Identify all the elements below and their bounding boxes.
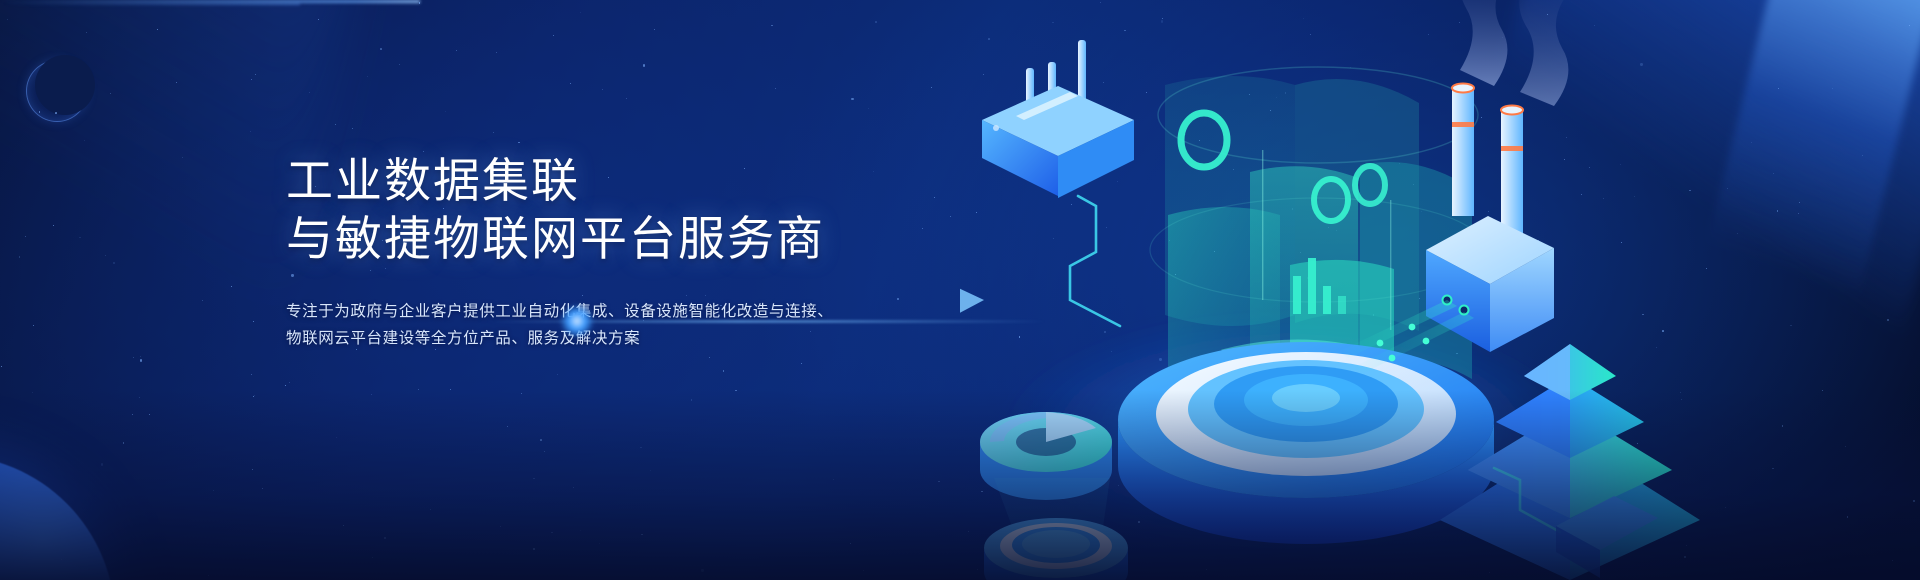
smokestack-1 bbox=[1452, 88, 1474, 216]
headline-line-2: 与敏捷物联网平台服务商 bbox=[286, 210, 986, 268]
network-cable-left bbox=[1070, 196, 1120, 326]
hero-copy: 工业数据集联 与敏捷物联网平台服务商 专注于为政府与企业客户提供工业自动化集成、… bbox=[286, 152, 986, 352]
pie-chart-block bbox=[980, 412, 1128, 580]
light-streak-horizontal-2 bbox=[0, 3, 300, 5]
wireless-router bbox=[982, 40, 1134, 198]
smokestack-2 bbox=[1501, 110, 1523, 238]
smoke-plume-1 bbox=[1460, 0, 1508, 86]
headline-line-1: 工业数据集联 bbox=[286, 152, 986, 210]
smoke-plume-2 bbox=[1519, 0, 1568, 106]
crescent-moon-icon bbox=[26, 60, 88, 122]
data-platform-disc bbox=[1118, 342, 1494, 544]
hero-banner: 工业数据集联 与敏捷物联网平台服务商 专注于为政府与企业客户提供工业自动化集成、… bbox=[0, 0, 1920, 580]
subtitle-line-2: 物联网云平台建设等全方位产品、服务及解决方案 bbox=[286, 325, 986, 352]
hero-subtitle: 专注于为政府与企业客户提供工业自动化集成、设备设施智能化改造与连接、 物联网云平… bbox=[286, 298, 986, 352]
illustration-isometric-scene bbox=[960, 0, 1920, 580]
planet-sphere bbox=[0, 455, 115, 580]
